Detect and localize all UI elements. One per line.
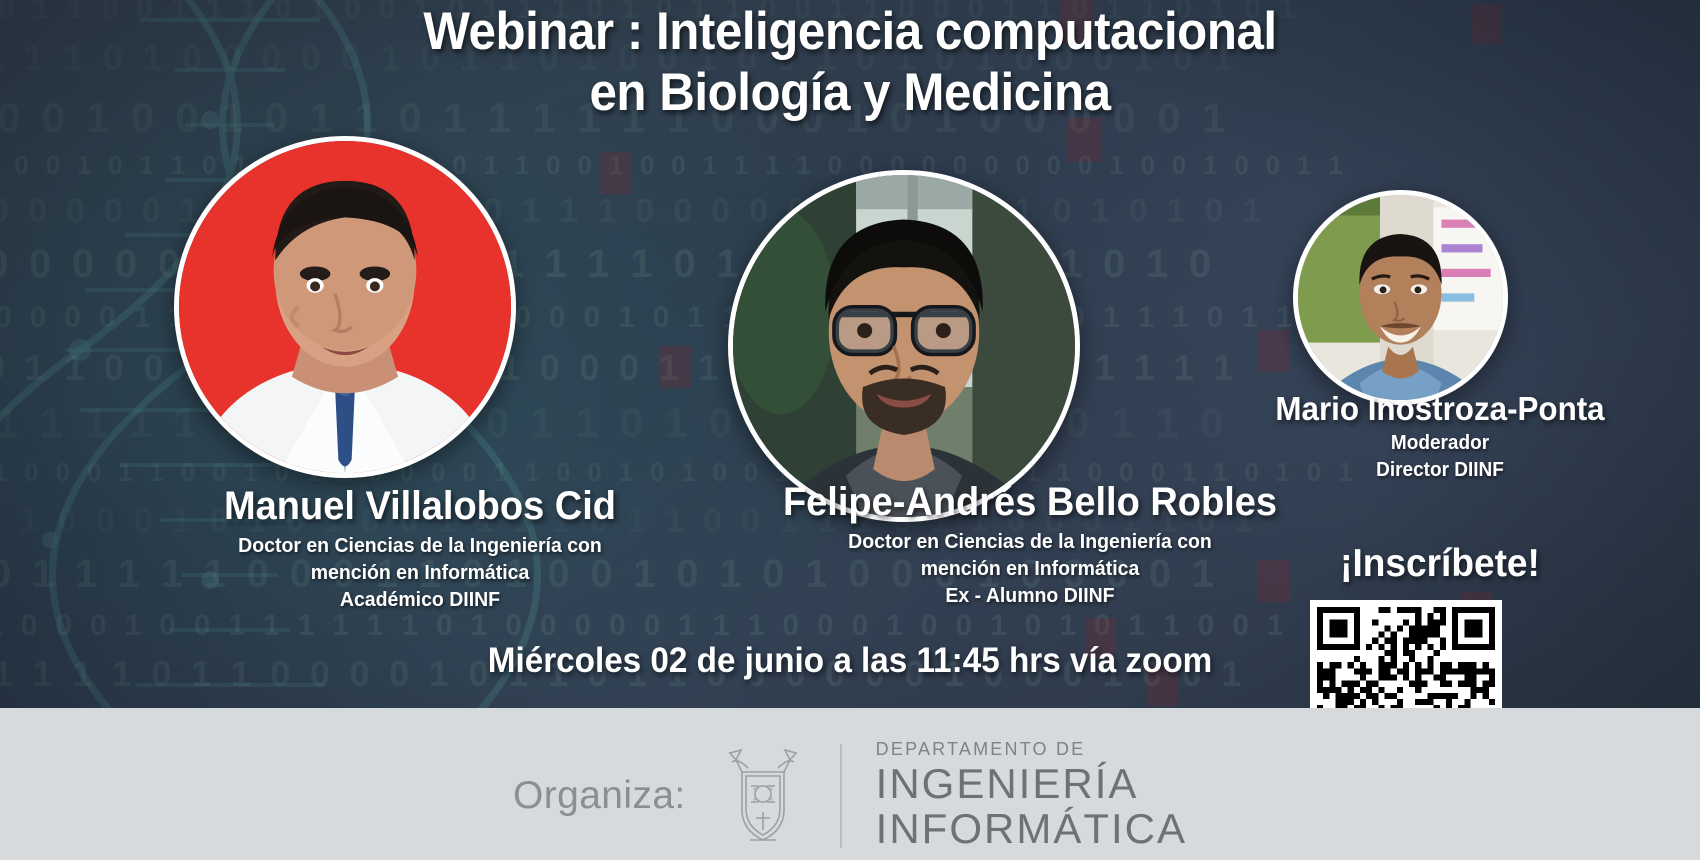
speaker-2-name: Felipe-Andrés Bello Robles xyxy=(660,482,1401,524)
footer-bar: Organiza: xyxy=(0,708,1700,860)
speaker-2-photo xyxy=(728,170,1080,522)
moderator-role: Moderador xyxy=(1203,430,1678,456)
speaker-1-photo xyxy=(174,136,516,478)
moderator-info: Mario Inostroza-Ponta Moderador Director… xyxy=(1190,392,1690,483)
dept-name-line-2: INFORMÁTICA xyxy=(876,807,1187,852)
dept-name-line-1: INGENIERÍA xyxy=(876,762,1187,807)
dept-prefix: DEPARTAMENTO DE xyxy=(876,740,1187,758)
portrait-mario-inostroza-ponta xyxy=(1298,195,1503,400)
department-logo-text: DEPARTAMENTO DE INGENIERÍA INFORMÁTICA xyxy=(876,740,1187,851)
title-line-1: Webinar : Inteligencia computacional xyxy=(423,2,1276,61)
logo-divider xyxy=(840,744,842,848)
portrait-felipe-andres-bello-robles xyxy=(733,175,1075,517)
title-line-2: en Biología y Medicina xyxy=(60,63,1641,124)
register-cta-text: ¡Inscríbete! xyxy=(1203,542,1678,586)
portrait-manuel-villalobos-cid xyxy=(179,141,511,473)
moderator-credentials: Moderador Director DIINF xyxy=(1203,430,1678,483)
webinar-poster: 0 1 1 0 0 1 1 1 0 1 0 0 1 0 1 1 1 0 1 0 … xyxy=(0,0,1700,860)
organiza-label: Organiza: xyxy=(513,774,686,818)
moderator-title: Director DIINF xyxy=(1203,457,1678,483)
usach-university-crest xyxy=(720,742,806,850)
poster-title: Webinar : Inteligencia computacional en … xyxy=(60,2,1641,124)
moderator-name: Mario Inostroza-Ponta xyxy=(1203,392,1678,426)
moderator-photo xyxy=(1293,190,1508,405)
